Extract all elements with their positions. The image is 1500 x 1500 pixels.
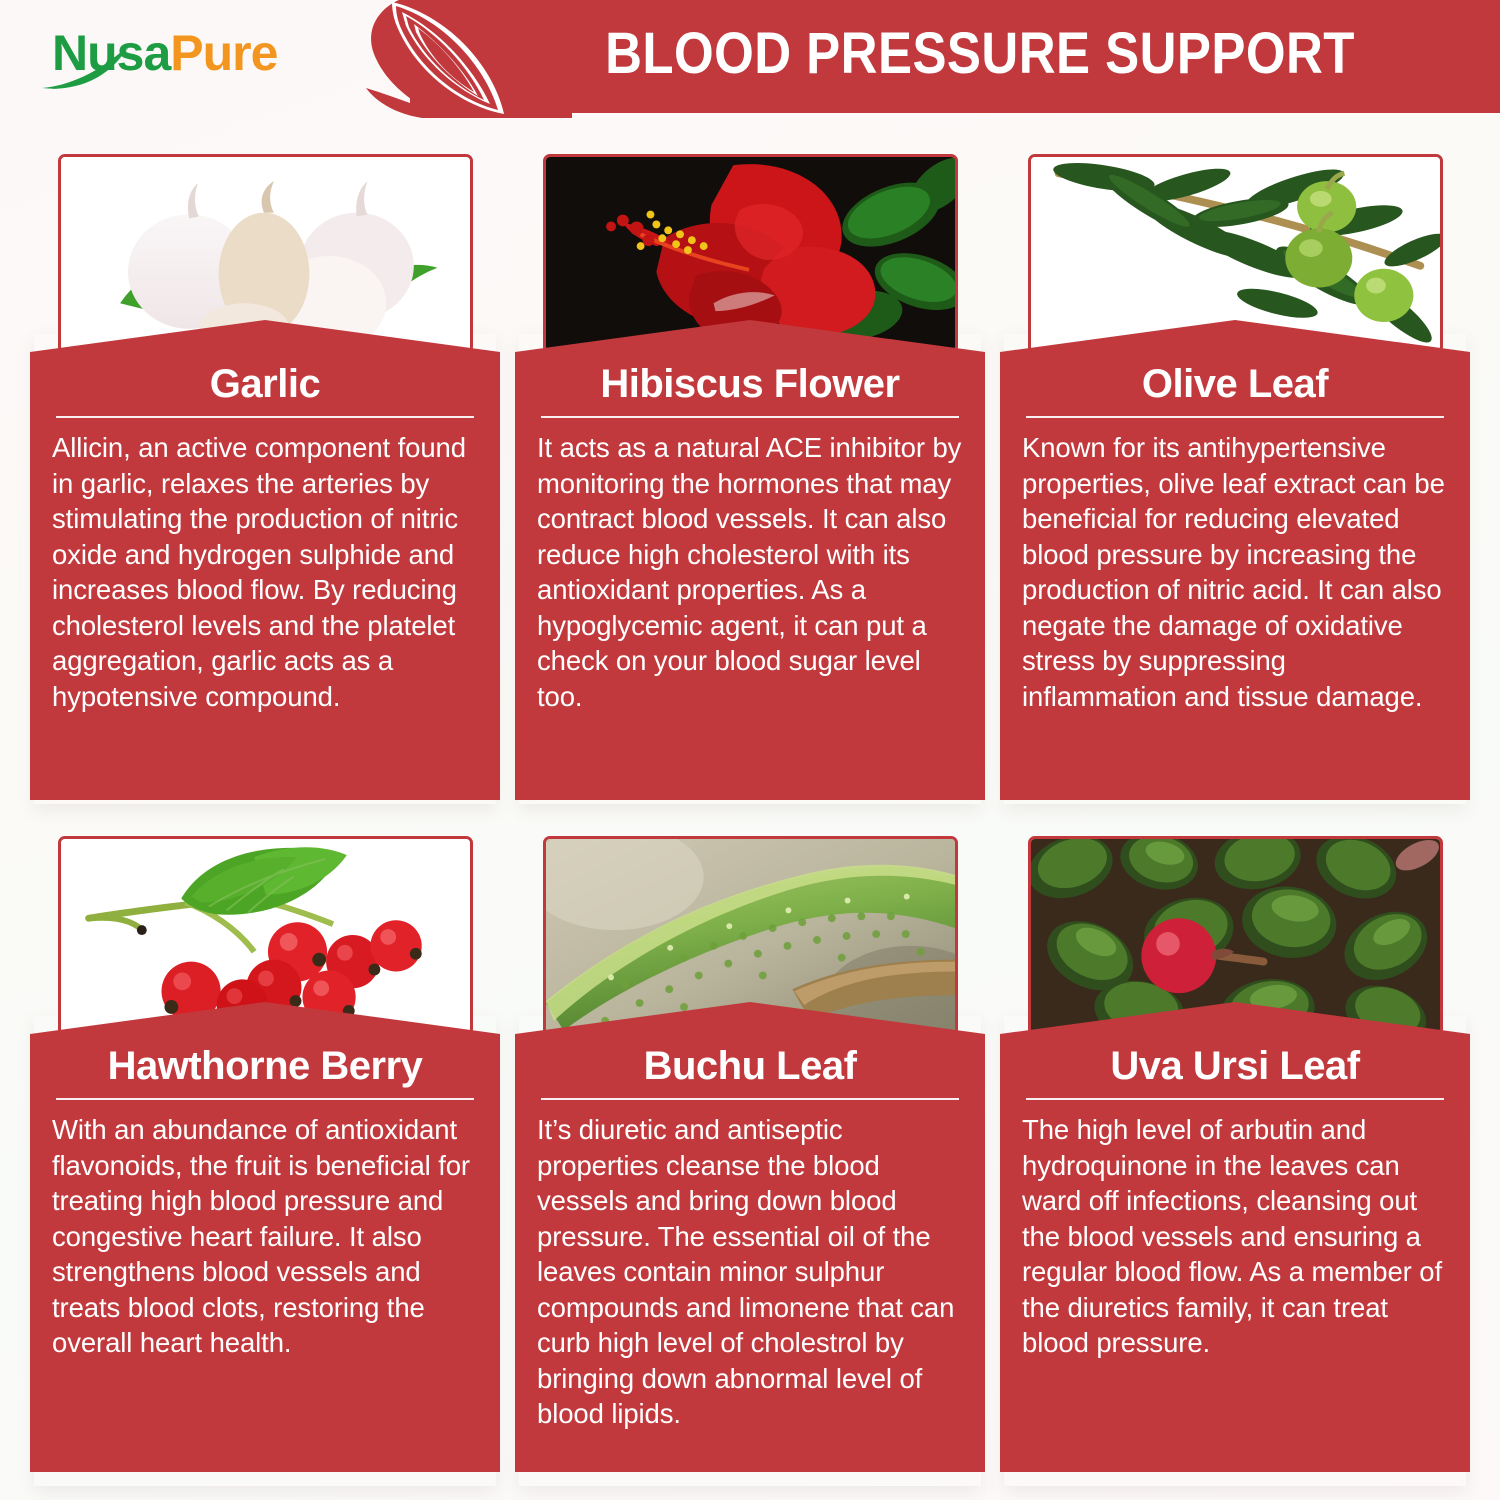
card-banner: Buchu Leaf It’s diuretic and antiseptic …: [515, 1002, 985, 1472]
card-body: Allicin, an active component found in ga…: [52, 430, 478, 714]
logo-wordmark: NusaPure: [52, 28, 277, 78]
card-body: With an abundance of antioxidant flavono…: [52, 1112, 478, 1361]
card-body: It’s diuretic and antiseptic properties …: [537, 1112, 963, 1432]
card-body: Known for its antihypertensive propertie…: [1022, 430, 1448, 714]
card-banner: Hibiscus Flower It acts as a natural ACE…: [515, 320, 985, 800]
title-divider: [1026, 416, 1444, 418]
title-divider: [541, 1098, 959, 1100]
card-title: Garlic: [52, 360, 478, 408]
ingredient-card-grid: Garlic Allicin, an active component foun…: [0, 118, 1500, 1500]
logo-text-nusa: Nusa: [52, 25, 170, 81]
title-divider: [56, 1098, 474, 1100]
card-body: It acts as a natural ACE inhibitor by mo…: [537, 430, 963, 714]
brand-logo: NusaPure: [52, 22, 277, 84]
card-banner: Hawthorne Berry With an abundance of ant…: [30, 1002, 500, 1472]
card-title: Hibiscus Flower: [537, 360, 963, 408]
page-title: BLOOD PRESSURE SUPPORT: [531, 14, 1429, 94]
card-title: Olive Leaf: [1022, 360, 1448, 408]
title-divider: [541, 416, 959, 418]
card-title: Hawthorne Berry: [52, 1042, 478, 1090]
card-banner: Uva Ursi Leaf The high level of arbutin …: [1000, 1002, 1470, 1472]
card-title: Buchu Leaf: [537, 1042, 963, 1090]
title-divider: [56, 416, 474, 418]
title-divider: [1026, 1098, 1444, 1100]
card-title: Uva Ursi Leaf: [1022, 1042, 1448, 1090]
card-banner: Olive Leaf Known for its antihypertensiv…: [1000, 320, 1470, 800]
page-header: BLOOD PRESSURE SUPPORT NusaPure: [0, 0, 1500, 118]
logo-text-pure: Pure: [170, 25, 277, 81]
card-banner: Garlic Allicin, an active component foun…: [30, 320, 500, 800]
card-body: The high level of arbutin and hydroquino…: [1022, 1112, 1448, 1361]
